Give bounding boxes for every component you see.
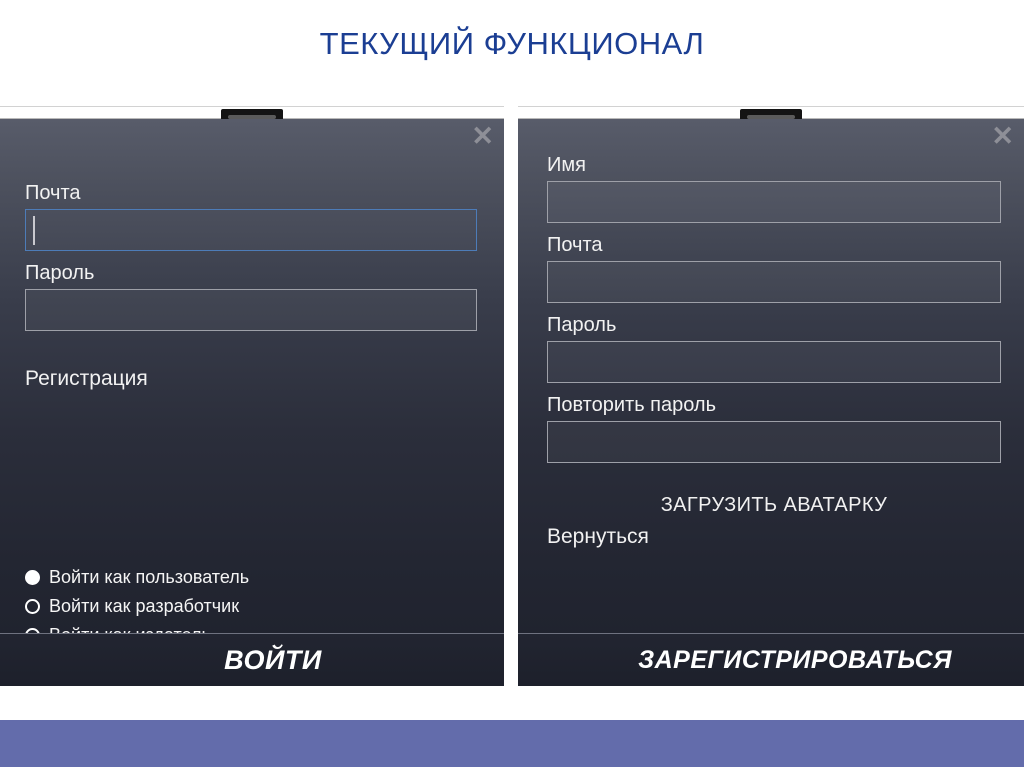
password-field-group: Пароль [547,314,1001,383]
close-icon[interactable]: ✕ [991,123,1014,150]
password-field-group: Пароль [25,262,477,331]
repeat-password-field-group: Повторить пароль [547,394,1001,463]
password-input[interactable] [25,289,477,331]
register-phone-mockup: ✕ Имя Почта Пароль Повторить пароль ЗАГР… [518,106,1024,686]
register-link[interactable]: Регистрация [25,367,148,391]
radio-empty-icon [25,599,40,614]
email-input[interactable] [547,261,1001,303]
register-form: Имя Почта Пароль Повторить пароль ЗАГРУЗ… [547,154,1001,549]
register-screen: ✕ Имя Почта Пароль Повторить пароль ЗАГР… [518,119,1024,686]
radio-filled-icon [25,570,40,585]
login-submit-button[interactable]: ВОЙТИ [0,633,504,686]
close-icon[interactable]: ✕ [471,123,494,150]
register-submit-label: ЗАРЕГИСТРИРОВАТЬСЯ [638,646,952,675]
radio-option-developer[interactable]: Войти как разработчик [25,596,465,617]
phone-top-bezel [0,106,504,119]
login-phone-mockup: ✕ Почта Пароль Регистрация Войти как пол… [0,106,504,686]
radio-option-developer-label: Войти как разработчик [49,596,239,617]
email-input[interactable] [25,209,477,251]
repeat-password-input[interactable] [547,421,1001,463]
page-title: ТЕКУЩИЙ ФУНКЦИОНАЛ [0,26,1024,62]
radio-option-user-label: Войти как пользователь [49,567,249,588]
bottom-accent-band [0,720,1024,767]
name-input[interactable] [547,181,1001,223]
phone-top-bezel [518,106,1024,119]
login-form: Почта Пароль Регистрация [25,182,477,391]
back-link[interactable]: Вернуться [547,525,649,549]
email-label: Почта [547,234,1001,256]
email-label: Почта [25,182,477,204]
login-screen: ✕ Почта Пароль Регистрация Войти как пол… [0,119,504,686]
radio-option-user[interactable]: Войти как пользователь [25,567,465,588]
password-input[interactable] [547,341,1001,383]
password-label: Пароль [25,262,477,284]
email-field-group: Почта [25,182,477,251]
register-submit-button[interactable]: ЗАРЕГИСТРИРОВАТЬСЯ [518,633,1024,686]
email-field-group: Почта [547,234,1001,303]
text-caret [33,216,35,245]
password-label: Пароль [547,314,1001,336]
login-submit-label: ВОЙТИ [224,645,322,676]
name-label: Имя [547,154,1001,176]
upload-avatar-button[interactable]: ЗАГРУЗИТЬ АВАТАРКУ [547,494,1001,517]
name-field-group: Имя [547,154,1001,223]
repeat-password-label: Повторить пароль [547,394,1001,416]
